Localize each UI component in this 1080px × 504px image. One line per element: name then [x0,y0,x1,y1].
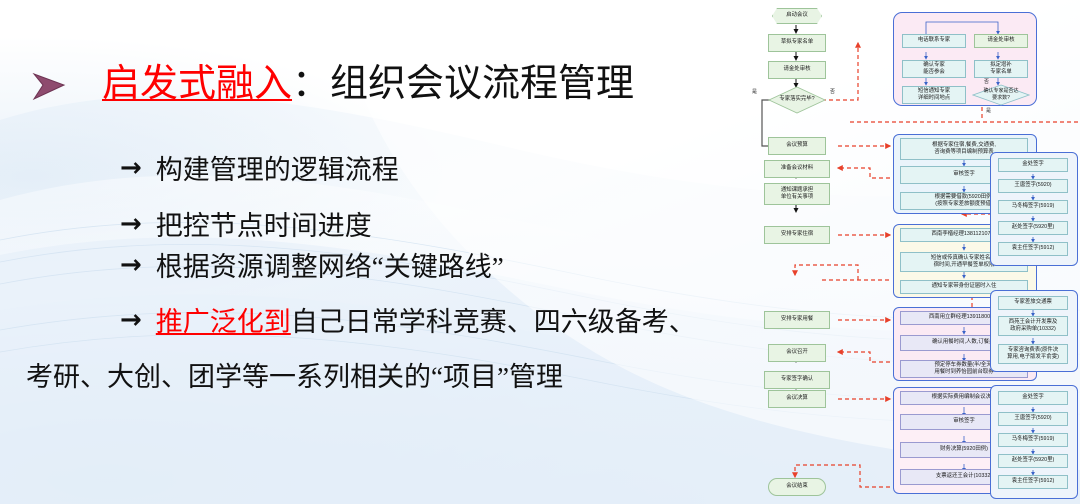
flow-node-meeting-held: 会议召开 [768,344,826,362]
bullet-highlight-4: 推广泛化到 [156,300,291,339]
flow-node-sig-zhaochu: 赵处签字(5920里) [998,221,1068,235]
decision-label-yes-2: 是 [986,107,991,114]
flow-node-notify-units: 通知课题承担 单位有关事项 [764,183,830,205]
flow-node-arrange-lodging: 安排专家住宿 [764,226,830,244]
flow-node-sig-director: 袁主任签字(5912) [998,242,1068,256]
title-rest: ：组织会议流程管理 [292,63,634,105]
title-highlight: 启发式融入 [102,63,292,105]
flow-node-draft-expert-list: 草拟专家名单 [768,34,826,52]
bullet-item-2: → 把控节点时间进度 [120,204,372,243]
flow-node-sig-madongmei: 马冬梅签字(5919) [998,200,1068,214]
flow-node-draft-supplement-list: 拟定增补 专家名单 [974,60,1028,78]
bullet-label-5: 考研、大创、团学等一系列相关的“项目”管理 [26,355,563,394]
right-arrow-icon-2: → [120,209,142,239]
bullet-item-1: → 构建管理的逻辑流程 [120,148,399,187]
bullet-item-4: → 推广泛化到自己日常学科竞赛、四六级备考、 [120,300,696,339]
slide-title-row: 启发式融入：组织会议流程管理 [30,62,634,103]
presentation-slide: 启发式融入：组织会议流程管理 → 构建管理的逻辑流程 → 把控节点时间进度 → … [0,0,1080,504]
decision-label-no-2: 否 [984,78,989,85]
flow-node-sig-fund-office-b: 金处签字 [998,391,1068,405]
flow-node-prepare-materials: 准备会议材料 [764,160,830,178]
flow-node-sig-wangtang-b: 王唐签字(5920) [998,412,1068,426]
decision-label-yes-1: 是 [752,88,757,95]
flow-node-start: 启动会议 [772,8,822,24]
flow-node-sig-wangtang: 王唐签字(5920) [998,179,1068,193]
flow-node-confirm-attendance: 确认专家 能否参会 [902,60,966,78]
bullet-label-4: 自己日常学科竞赛、四六级备考、 [291,300,696,339]
flow-node-experts-confirmed: 专家落实完毕? [768,86,826,114]
flow-node-sig-director-b: 袁主任签字(5912) [998,475,1068,489]
flow-node-consulting-fee-table: 专家咨询费表(原件决 算用,电子版发平俞雯) [998,344,1068,364]
flow-node-fund-office-review: 请金处审核 [768,61,826,79]
bullet-item-5: 考研、大创、团学等一系列相关的“项目”管理 [26,355,563,394]
flow-node-phone-contact-expert: 电话联系专家 [902,34,966,48]
flow-node-arrange-meals: 安排专家用餐 [764,311,830,329]
flow-node-sms-notify-detail: 短信通知专家 详细时间地点 [902,86,966,104]
bullet-label-2: 把控节点时间进度 [156,204,372,243]
slide-content: 启发式融入：组织会议流程管理 → 构建管理的逻辑流程 → 把控节点时间进度 → … [0,0,755,504]
flow-node-sig-fund-office: 金处签字 [998,158,1068,172]
flow-node-meeting-settlement: 会议决算 [768,390,826,408]
meeting-process-flowchart: 启动会议 草拟专家名单 请金处审核 专家落实完毕? 是 否 会议预算 准备会议材… [750,0,1080,504]
decision-label-no-1: 否 [830,88,835,95]
flow-node-invoice-and-purchase: 西苑王会计开发票及 政府采购单(10332) [998,316,1068,336]
bullet-item-3: → 根据资源调整网络“关键路线” [120,245,504,284]
bullet-label-1: 构建管理的逻辑流程 [156,148,399,187]
flow-node-end: 会议结束 [768,478,826,496]
flow-node-meeting-budget: 会议预算 [768,137,826,155]
flow-node-expert-travel-ticket: 专家差旅交通票 [998,296,1068,310]
arrow-head-bullet-icon [30,68,70,102]
flow-node-fund-office-review-2: 请金处审核 [974,34,1028,48]
bullet-label-3: 根据资源调整网络“关键路线” [156,245,504,284]
flow-node-sig-madongmei-b: 马冬梅签字(5919) [998,433,1068,447]
flow-node-sig-zhaochu-b: 赵处签字(5920里) [998,454,1068,468]
right-arrow-icon-4: → [120,305,142,335]
page-title: 启发式融入：组织会议流程管理 [102,65,634,103]
flow-node-expert-meets-requirement: 确认专家是否达 要求数? [972,84,1030,106]
right-arrow-icon-1: → [120,153,142,183]
right-arrow-icon-3: → [120,250,142,280]
flow-node-expert-sign-confirm: 专家签字确认 [764,371,830,389]
